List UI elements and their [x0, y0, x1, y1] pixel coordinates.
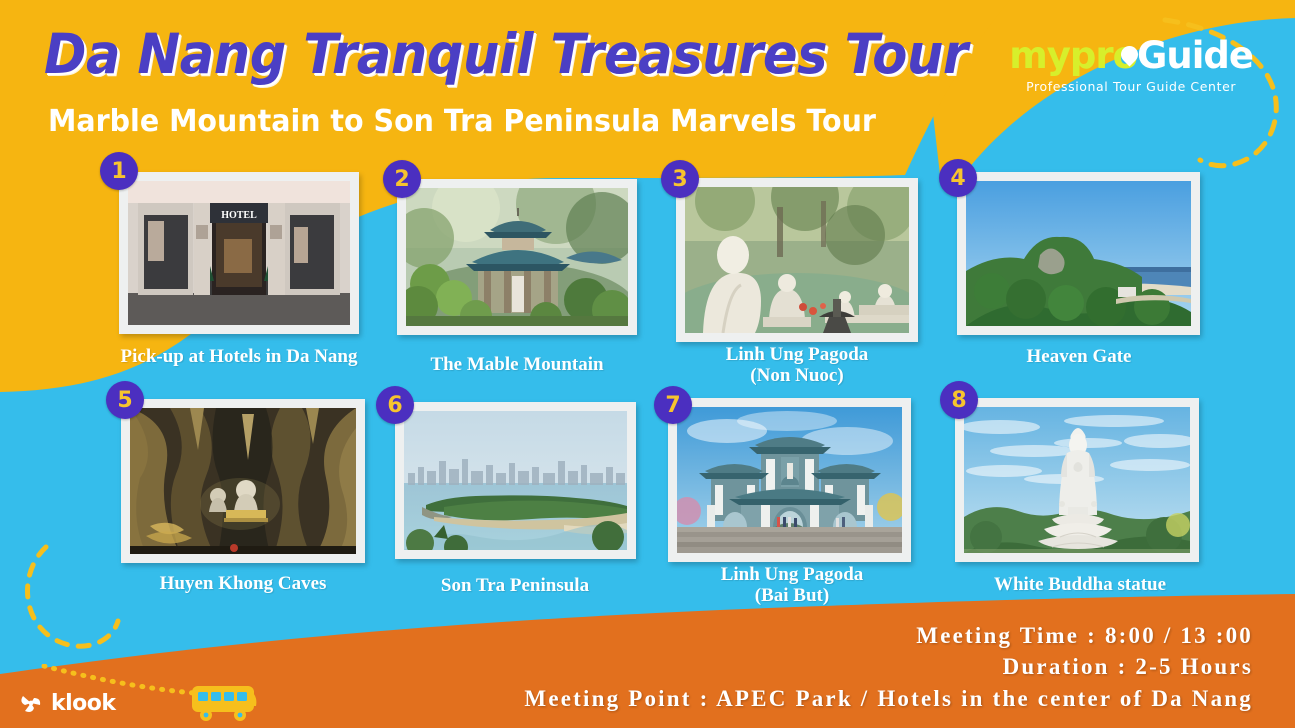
- svg-text:HOTEL: HOTEL: [221, 210, 257, 221]
- logo-text-mypro: mypro: [1009, 34, 1137, 77]
- logo-text-guide: Guide: [1137, 34, 1253, 77]
- stop-badge-3: 3: [661, 160, 699, 198]
- marble-statues-garden-photo: [685, 187, 909, 333]
- info-banner-text: Meeting Time : 8:00 / 13 :00 Duration : …: [524, 620, 1253, 714]
- stop-badge-4: 4: [939, 159, 977, 197]
- huyen-khong-cave-photo: [130, 408, 356, 554]
- meeting-time-line: Meeting Time : 8:00 / 13 :00: [524, 620, 1253, 651]
- stop-photo-frame-6: [395, 402, 636, 559]
- linh-ung-pagoda-gate-photo: [677, 407, 902, 553]
- stop-caption-1: Pick-up at Hotels in Da Nang: [99, 347, 379, 368]
- meeting-point-line: Meeting Point : APEC Park / Hotels in th…: [524, 683, 1253, 714]
- stop-photo-frame-1: HOTEL: [119, 172, 359, 334]
- page-subtitle: Marble Mountain to Son Tra Peninsula Mar…: [48, 104, 876, 139]
- stop-badge-2: 2: [383, 160, 421, 198]
- stop-badge-5: 5: [106, 381, 144, 419]
- hotel-facade-photo: HOTEL: [128, 181, 350, 325]
- stop-photo-frame-8: [955, 398, 1199, 562]
- white-buddha-statue-photo: [964, 407, 1190, 553]
- stop-photo-frame-2: [397, 179, 637, 335]
- son-tra-peninsula-photo: [404, 411, 627, 550]
- stop-caption-4: Heaven Gate: [939, 347, 1219, 368]
- tour-infographic-poster: Da Nang Tranquil Treasures Tour Marble M…: [0, 0, 1295, 728]
- duration-line: Duration : 2-5 Hours: [524, 651, 1253, 682]
- stop-badge-7: 7: [654, 386, 692, 424]
- heaven-gate-coastal-view-photo: [966, 181, 1191, 326]
- stop-photo-frame-5: [121, 399, 365, 563]
- stop-caption-2: The Mable Mountain: [377, 355, 657, 376]
- bus-icon: [190, 682, 260, 724]
- stop-badge-8: 8: [940, 381, 978, 419]
- page-title: Da Nang Tranquil Treasures Tour: [44, 22, 968, 86]
- stop-photo-frame-3: [676, 178, 918, 342]
- dotted-trail-decoration: [40, 664, 210, 700]
- stop-photo-frame-4: [957, 172, 1200, 335]
- marble-mountain-pagoda-photo: [406, 188, 628, 326]
- myproguide-logo: mypro Guide Professional Tour Guide Cent…: [1009, 34, 1253, 94]
- stop-badge-6: 6: [376, 386, 414, 424]
- logo-tagline: Professional Tour Guide Center: [1009, 79, 1253, 94]
- stop-badge-1: 1: [100, 152, 138, 190]
- stop-photo-frame-7: [668, 398, 911, 562]
- logo-wordmark: mypro Guide: [1009, 34, 1253, 77]
- stop-caption-3: Linh Ung Pagoda (Non Nuoc): [657, 345, 937, 386]
